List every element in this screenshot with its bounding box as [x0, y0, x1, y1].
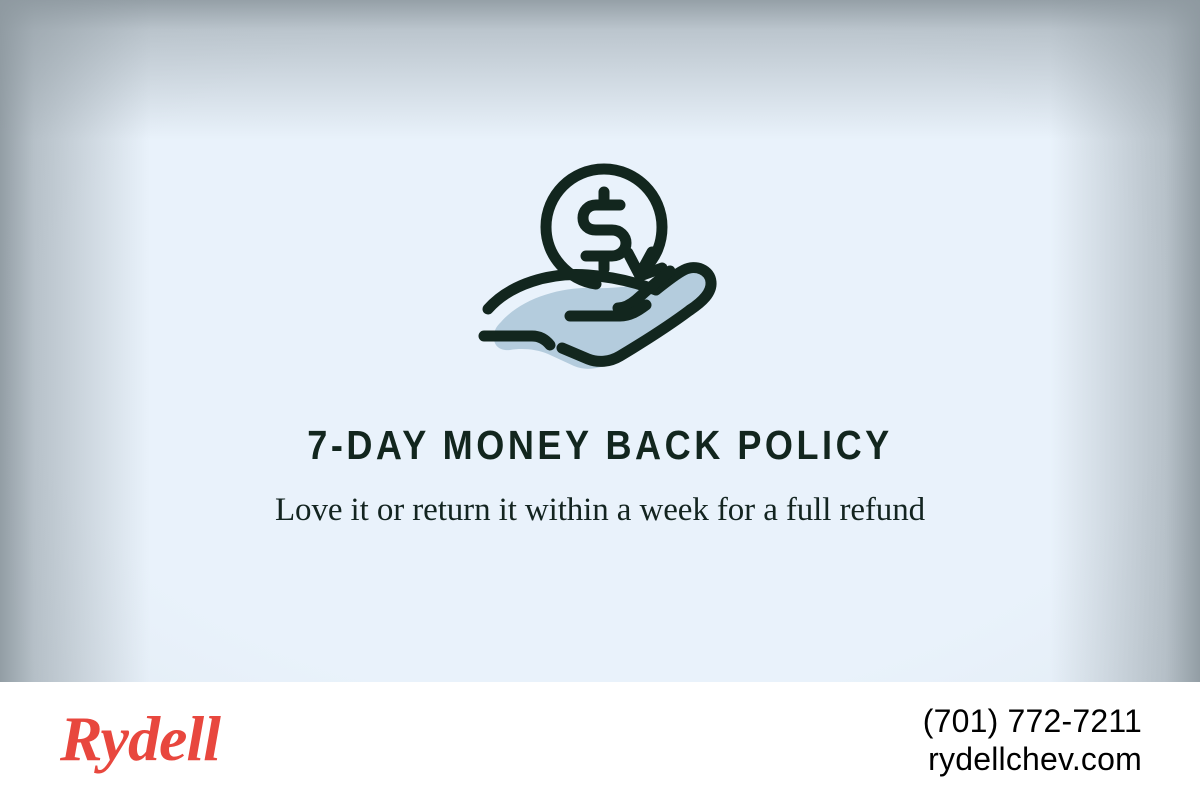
- footer-bar: Rydell (701) 772-7211 rydellchev.com: [0, 682, 1200, 800]
- icon-container: [0, 150, 1200, 390]
- brand-logo[interactable]: Rydell: [60, 707, 220, 771]
- page-subtitle: Love it or return it within a week for a…: [255, 489, 945, 533]
- promo-card: 7-DAY MONEY BACK POLICY Love it or retur…: [0, 0, 1200, 800]
- page-title: 7-DAY MONEY BACK POLICY: [151, 424, 1049, 467]
- contact-block: (701) 772-7211 rydellchev.com: [923, 703, 1142, 779]
- dollar-sign-glyph: [583, 192, 626, 269]
- website-link[interactable]: rydellchev.com: [923, 741, 1142, 779]
- text-block: 7-DAY MONEY BACK POLICY Love it or retur…: [0, 424, 1200, 533]
- phone-number[interactable]: (701) 772-7211: [923, 703, 1142, 741]
- money-back-hand-icon: [470, 150, 730, 390]
